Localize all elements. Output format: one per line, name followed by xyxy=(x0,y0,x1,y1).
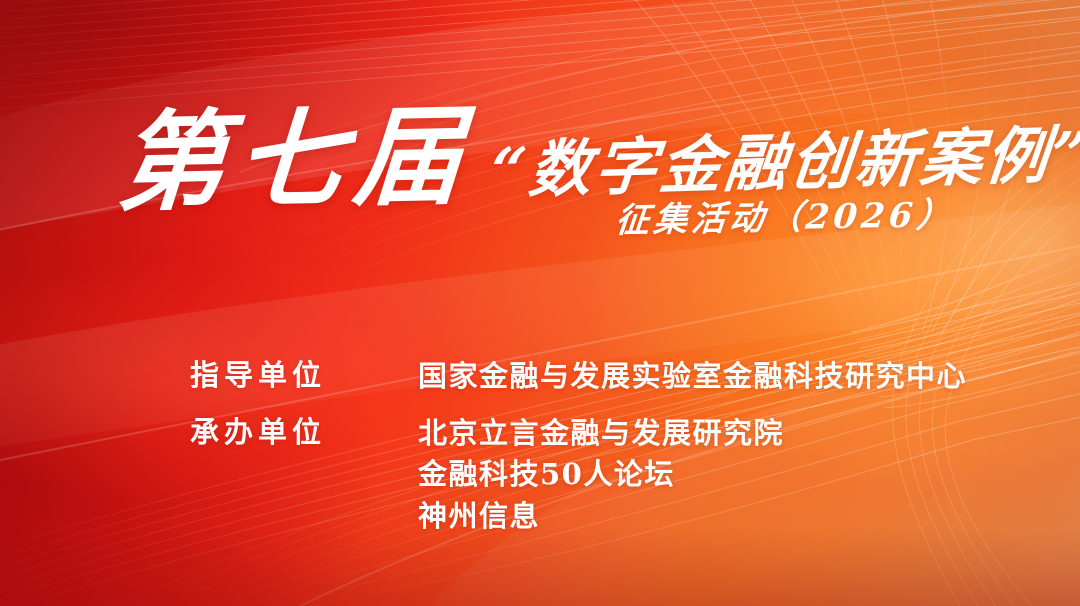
sponsor-value: 北京立言金融与发展研究院 xyxy=(418,413,1020,454)
sponsor-label-organizer: 承办单位 xyxy=(190,413,418,452)
sponsor-value: 神州信息 xyxy=(418,496,1020,537)
poster-banner: 第七届 “数字金融创新案例” 征集活动（2026） 指导单位 国家金融与发展实验… xyxy=(0,0,1080,606)
page-subtitle-year: 征集活动（2026） xyxy=(614,187,958,242)
sponsor-block: 指导单位 国家金融与发展实验室金融科技研究中心 承办单位 北京立言金融与发展研究… xyxy=(190,356,1020,537)
sponsor-values-guidance: 国家金融与发展实验室金融科技研究中心 xyxy=(418,356,1020,397)
sponsor-row-guidance: 指导单位 国家金融与发展实验室金融科技研究中心 xyxy=(190,356,1020,397)
sponsor-values-organizer: 北京立言金融与发展研究院 金融科技50人论坛 神州信息 xyxy=(418,413,1020,537)
poster-content: 第七届 “数字金融创新案例” 征集活动（2026） 指导单位 国家金融与发展实验… xyxy=(0,0,1080,606)
title-block: 第七届 “数字金融创新案例” 征集活动（2026） xyxy=(0,96,1080,256)
sponsor-value: 国家金融与发展实验室金融科技研究中心 xyxy=(418,356,1020,397)
sponsor-row-organizer: 承办单位 北京立言金融与发展研究院 金融科技50人论坛 神州信息 xyxy=(190,413,1020,537)
page-title-edition: 第七届 xyxy=(114,98,476,222)
sponsor-label-guidance: 指导单位 xyxy=(190,356,418,395)
sponsor-value: 金融科技50人论坛 xyxy=(418,454,1020,495)
